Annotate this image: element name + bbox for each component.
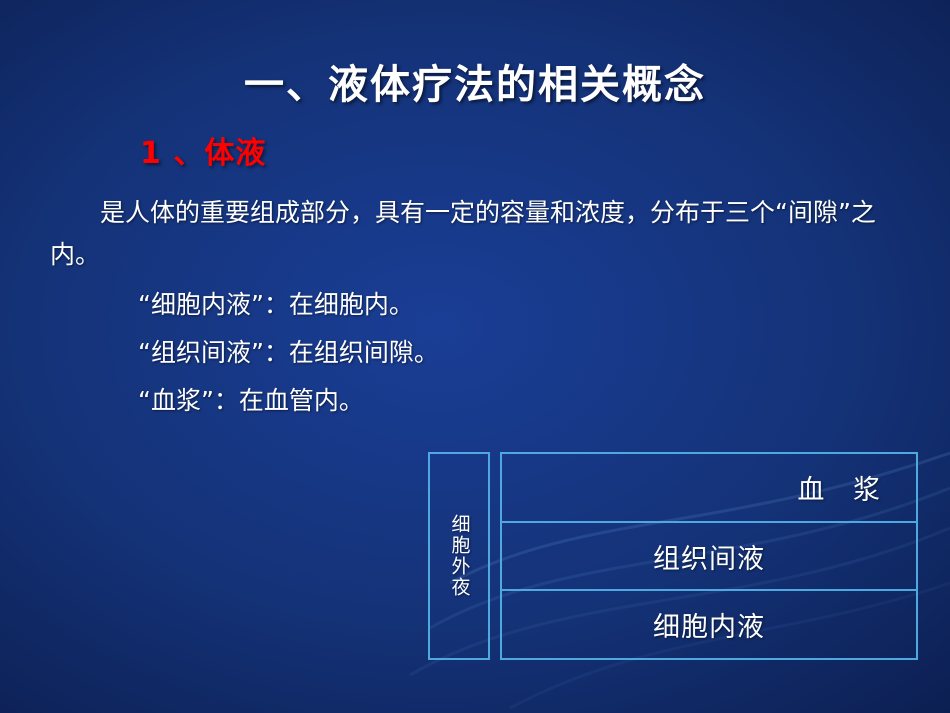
- diagram-left-box: 细胞外夜: [428, 452, 490, 660]
- body-line-2: “组织间液”：在组织间隙。: [50, 332, 920, 374]
- diagram-row-interstitial: 组织间液: [502, 523, 916, 590]
- body-line-3: “血浆”：在血管内。: [50, 380, 920, 422]
- slide-canvas: 一、液体疗法的相关概念 1 、体液 是人体的重要组成部分，具有一定的容量和浓度，…: [0, 0, 950, 713]
- diagram-right-stack: 血 浆 组织间液 细胞内液: [500, 452, 918, 660]
- diagram-left-label: 细胞外夜: [447, 514, 472, 598]
- slide-subtitle: 1 、体液: [140, 128, 266, 172]
- diagram-row-plasma: 血 浆: [502, 454, 916, 521]
- slide-body: 是人体的重要组成部分，具有一定的容量和浓度，分布于三个“间隙”之内。 “细胞内液…: [50, 192, 920, 428]
- body-line-1: “细胞内液”：在细胞内。: [50, 284, 920, 326]
- slide-title: 一、液体疗法的相关概念: [0, 52, 950, 110]
- diagram-row-intracellular: 细胞内液: [502, 591, 916, 658]
- body-paragraph: 是人体的重要组成部分，具有一定的容量和浓度，分布于三个“间隙”之内。: [50, 192, 920, 276]
- fluid-compartment-diagram: 细胞外夜 血 浆 组织间液 细胞内液: [428, 452, 918, 660]
